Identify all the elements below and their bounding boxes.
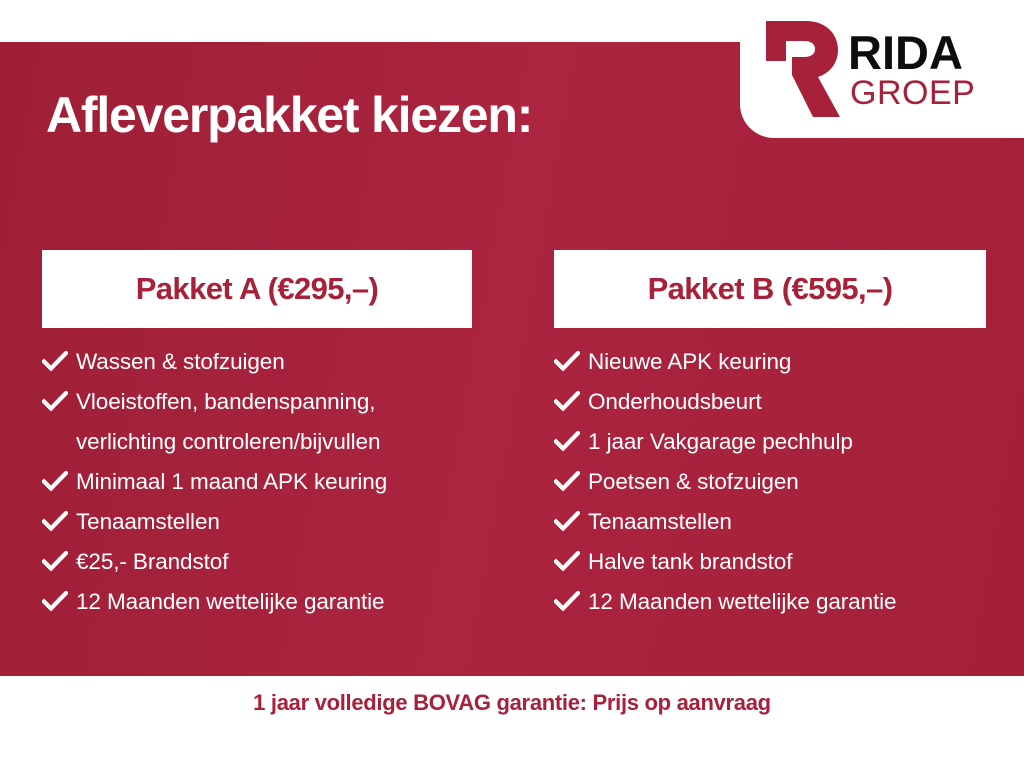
check-icon: [42, 542, 72, 571]
page-title: Afleverpakket kiezen:: [46, 86, 532, 144]
check-icon: [42, 342, 72, 371]
package-a-header-card: Pakket A (€295,–): [42, 250, 472, 328]
r-monogram-icon: [756, 17, 842, 121]
list-item: Vloeistoffen, bandenspanning, verlichtin…: [42, 382, 472, 462]
package-b-title: Pakket B (€595,–): [648, 271, 893, 307]
check-icon: [554, 382, 584, 411]
brand-logo: RIDA GROEP: [740, 0, 1024, 138]
check-icon: [42, 382, 72, 411]
slide-root: Afleverpakket kiezen: Pakket A (€295,–) …: [0, 0, 1024, 768]
list-item-label: 1 jaar Vakgarage pechhulp: [588, 422, 986, 462]
list-item: Minimaal 1 maand APK keuring: [42, 462, 472, 502]
list-item: Onderhoudsbeurt: [554, 382, 986, 422]
logo-wordmark: RIDA GROEP: [848, 28, 975, 110]
check-icon: [42, 462, 72, 491]
list-item-label: 12 Maanden wettelijke garantie: [588, 582, 986, 622]
check-icon: [554, 422, 584, 451]
list-item: Halve tank brandstof: [554, 542, 986, 582]
footer-bar: 1 jaar volledige BOVAG garantie: Prijs o…: [0, 676, 1024, 768]
check-icon: [554, 502, 584, 531]
list-item-label: 12 Maanden wettelijke garantie: [76, 582, 472, 622]
list-item-label: Vloeistoffen, bandenspanning, verlichtin…: [76, 382, 472, 462]
package-b-header-card: Pakket B (€595,–): [554, 250, 986, 328]
package-a-feature-list: Wassen & stofzuigen Vloeistoffen, banden…: [42, 342, 472, 622]
list-item-label: Halve tank brandstof: [588, 542, 986, 582]
list-item: Tenaamstellen: [554, 502, 986, 542]
logo-secondary-text: GROEP: [850, 77, 975, 110]
list-item-label: €25,- Brandstof: [76, 542, 472, 582]
package-a-title: Pakket A (€295,–): [136, 271, 379, 307]
logo-primary-text: RIDA: [848, 30, 975, 75]
list-item-label: Onderhoudsbeurt: [588, 382, 986, 422]
list-item: 12 Maanden wettelijke garantie: [554, 582, 986, 622]
list-item-label: Nieuwe APK keuring: [588, 342, 986, 382]
check-icon: [42, 582, 72, 611]
list-item-label: Tenaamstellen: [588, 502, 986, 542]
list-item-label: Poetsen & stofzuigen: [588, 462, 986, 502]
list-item: €25,- Brandstof: [42, 542, 472, 582]
list-item: 1 jaar Vakgarage pechhulp: [554, 422, 986, 462]
package-column-b: Pakket B (€595,–) Nieuwe APK keuring Ond…: [554, 250, 986, 622]
list-item: Nieuwe APK keuring: [554, 342, 986, 382]
list-item: 12 Maanden wettelijke garantie: [42, 582, 472, 622]
package-column-a: Pakket A (€295,–) Wassen & stofzuigen Vl…: [42, 250, 472, 622]
list-item: Poetsen & stofzuigen: [554, 462, 986, 502]
check-icon: [554, 582, 584, 611]
list-item: Wassen & stofzuigen: [42, 342, 472, 382]
list-item-label: Wassen & stofzuigen: [76, 342, 472, 382]
footer-note: 1 jaar volledige BOVAG garantie: Prijs o…: [253, 690, 771, 716]
package-b-feature-list: Nieuwe APK keuring Onderhoudsbeurt 1 jaa…: [554, 342, 986, 622]
check-icon: [554, 542, 584, 571]
list-item: Tenaamstellen: [42, 502, 472, 542]
list-item-label: Tenaamstellen: [76, 502, 472, 542]
check-icon: [554, 342, 584, 371]
list-item-label: Minimaal 1 maand APK keuring: [76, 462, 472, 502]
check-icon: [554, 462, 584, 491]
check-icon: [42, 502, 72, 531]
